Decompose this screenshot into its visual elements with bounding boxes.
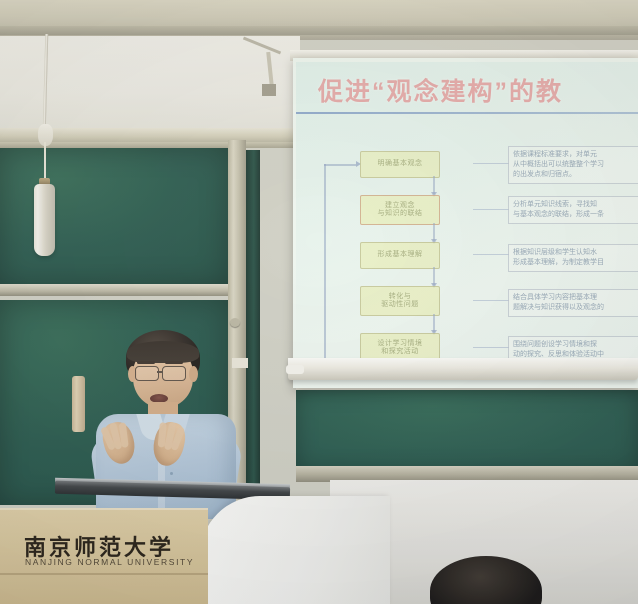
- flow-note-0-line-1: 从中概括出可以统整整个学习: [513, 160, 638, 170]
- eyeglasses-bridge: [157, 371, 163, 373]
- flow-note-1-line-1: 与基本观念的联结，形成一条: [513, 210, 638, 220]
- flow-connector-2: [473, 254, 509, 255]
- eyeglasses-lens-right: [162, 366, 186, 381]
- flow-step-2: 形成基本理解: [360, 242, 440, 269]
- feedback-loop-vertical-segment: [324, 164, 326, 360]
- presenter-eyebrow-left: [137, 361, 155, 364]
- blackboard-chalk-rail: [0, 284, 232, 296]
- flow-step-4: 设计学习情境 和探究活动: [360, 333, 440, 360]
- microphone-windscreen: [72, 376, 85, 432]
- presenter-ear-right: [189, 366, 198, 382]
- flow-step-0: 明确基本观念: [360, 151, 440, 178]
- flow-note-1-line-0: 分析单元知识线索，寻找知: [513, 200, 638, 210]
- flow-step-1-line-1: 与知识的联结: [378, 210, 423, 218]
- flow-note-2-line-1: 形成基本理解，为制定教学目: [513, 258, 638, 268]
- university-name-english: NANJING NORMAL UNIVERSITY: [25, 557, 205, 567]
- hanging-microphone: [34, 184, 55, 256]
- flow-note-3: 结合具体学习内容把基本理 题解决与知识获得以及观念的: [508, 289, 638, 317]
- ceiling-beam: [0, 26, 638, 35]
- flow-connector-1: [473, 209, 509, 210]
- flow-step-1: 建立观念 与知识的联结: [360, 195, 440, 225]
- flow-connector-4: [473, 347, 509, 348]
- flow-step-3: 转化与 驱动性问题: [360, 286, 440, 316]
- flow-step-3-line-1: 驱动性问题: [381, 301, 419, 309]
- microphone-hanging-wire: [44, 142, 46, 180]
- flow-step-2-line-0: 形成基本理解: [378, 251, 423, 259]
- flow-note-0: 依据课程标准要求，对单元 从中概括出可以统整整个学习 的出发点和归宿点。: [508, 146, 638, 184]
- eyeglasses-lens-left: [135, 366, 159, 381]
- projection-screen-bottom-bar: [288, 358, 638, 380]
- projection-screen-pull-tab[interactable]: [286, 365, 304, 374]
- projected-slide: 促进“观念建构”的教 明确基本观念 依据课程标准要求，对单元 从中概括出可以统整…: [296, 62, 638, 360]
- presenter-eyebrow-right: [165, 361, 183, 364]
- flow-note-3-line-0: 结合具体学习内容把基本理: [513, 293, 638, 303]
- flow-note-0-line-2: 的出发点和归宿点。: [513, 170, 638, 180]
- flow-note-1: 分析单元知识线索，寻找知 与基本观念的联结，形成一条: [508, 196, 638, 224]
- flow-note-0-line-0: 依据课程标准要求，对单元: [513, 150, 638, 160]
- flow-step-4-line-1: 和探究活动: [381, 348, 419, 356]
- flow-step-3-line-0: 转化与: [389, 293, 412, 301]
- shirt-button: [170, 472, 173, 475]
- feedback-loop-top-segment: [324, 164, 356, 166]
- flow-note-4: 围绕问题创设学习情境和探 动的探究、反思和体验活动中: [508, 336, 638, 360]
- flow-step-4-line-0: 设计学习情境: [378, 340, 423, 348]
- podium-panel-seam: [0, 573, 208, 575]
- flow-note-2-line-0: 根据知识层级和学生认知水: [513, 248, 638, 258]
- blackboard-right: [296, 390, 638, 472]
- flow-note-4-line-0: 围绕问题创设学习情境和探: [513, 340, 638, 350]
- desk-front-panel: [200, 496, 390, 604]
- slide-title: 促进“观念建构”的教: [318, 72, 638, 106]
- flow-note-2: 根据知识层级和学生认知水 形成基本理解，为制定教学目: [508, 244, 638, 272]
- lecture-hall-photo: 促进“观念建构”的教 明确基本观念 依据课程标准要求，对单元 从中概括出可以统整…: [0, 0, 638, 604]
- slide-title-underline: [296, 112, 638, 114]
- flow-connector-0: [473, 163, 509, 164]
- flow-step-1-line-0: 建立观念: [385, 202, 415, 210]
- wall-bracket-foot: [262, 84, 276, 96]
- track-knob: [230, 318, 240, 327]
- flow-step-0-line-0: 明确基本观念: [378, 160, 423, 168]
- presenter-hair-fringe: [127, 341, 199, 363]
- flow-note-3-line-1: 题解决与知识获得以及观念的: [513, 303, 638, 313]
- flow-connector-3: [473, 300, 509, 301]
- university-name-chinese: 南京师范大学: [24, 530, 184, 558]
